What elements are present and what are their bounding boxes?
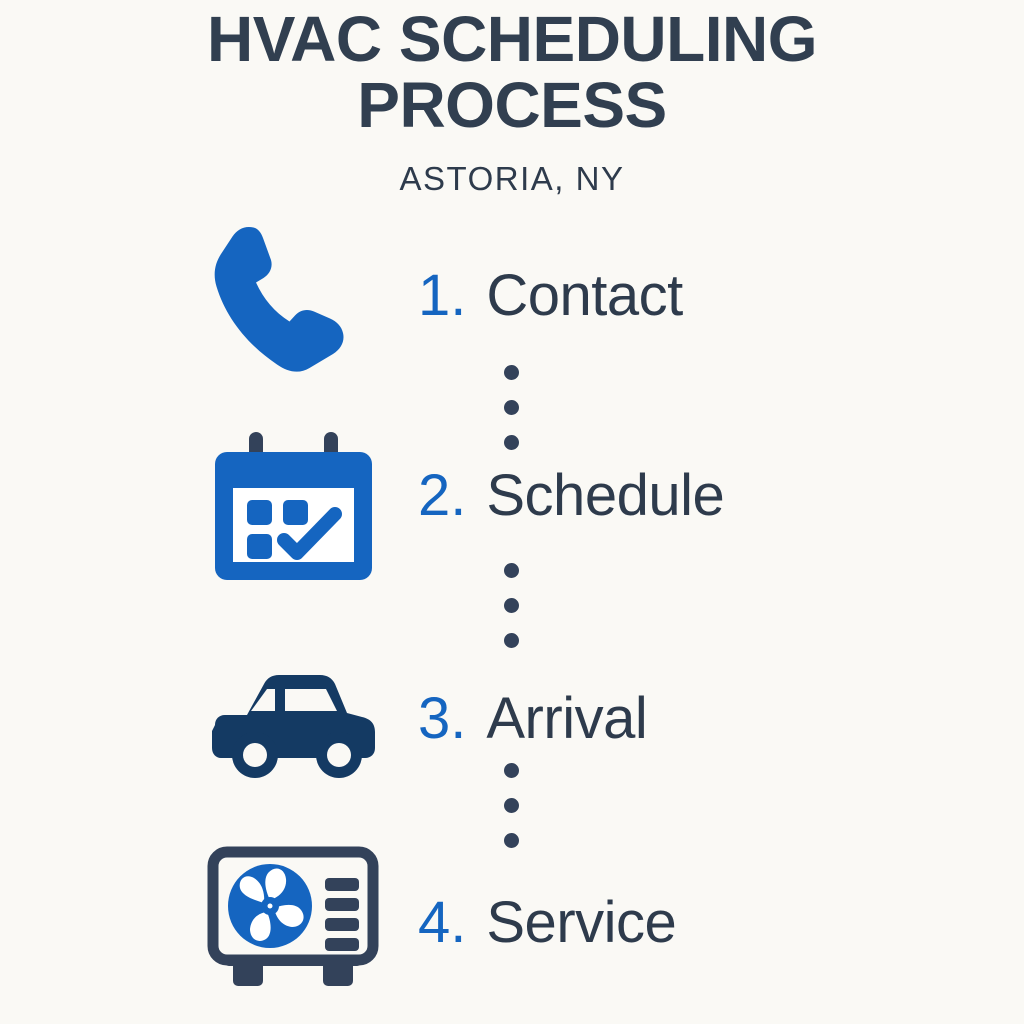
connector-dot [504,563,519,578]
process-step-4[interactable]: 4. Service [0,810,1024,1010]
page-title-line-2: PROCESS [357,69,666,141]
process-step-4-label: 4. Service [418,832,676,1012]
process-steps-list: 1. Contact [0,205,1024,995]
connector-dot [504,763,519,778]
process-step-3-label: 3. Arrival [418,628,647,808]
infographic-canvas: HVAC SCHEDULINGPROCESS ASTORIA, NY 1. Co… [0,0,1024,1024]
process-step-3-number: 3. [418,685,466,752]
process-step-4-text: Service [486,889,676,956]
process-step-1-number: 1. [418,262,466,329]
process-step-4-number: 4. [418,889,466,956]
phone-icon [195,213,391,393]
page-subtitle: ASTORIA, NY [0,160,1024,198]
process-step-1-label: 1. Contact [418,205,683,385]
connector-dot [504,365,519,380]
process-step-2-label: 2. Schedule [418,405,724,585]
process-step-2-number: 2. [418,462,466,529]
calendar-check-icon [195,417,391,597]
page-title: HVAC SCHEDULINGPROCESS [0,6,1024,138]
process-step-1-text: Contact [486,262,682,329]
header: HVAC SCHEDULINGPROCESS ASTORIA, NY [0,6,1024,198]
process-step-3-text: Arrival [486,685,647,752]
process-step-2-text: Schedule [486,462,724,529]
page-title-line-1: HVAC SCHEDULING [207,3,817,75]
hvac-unit-icon [195,828,391,1008]
car-icon [195,638,391,818]
